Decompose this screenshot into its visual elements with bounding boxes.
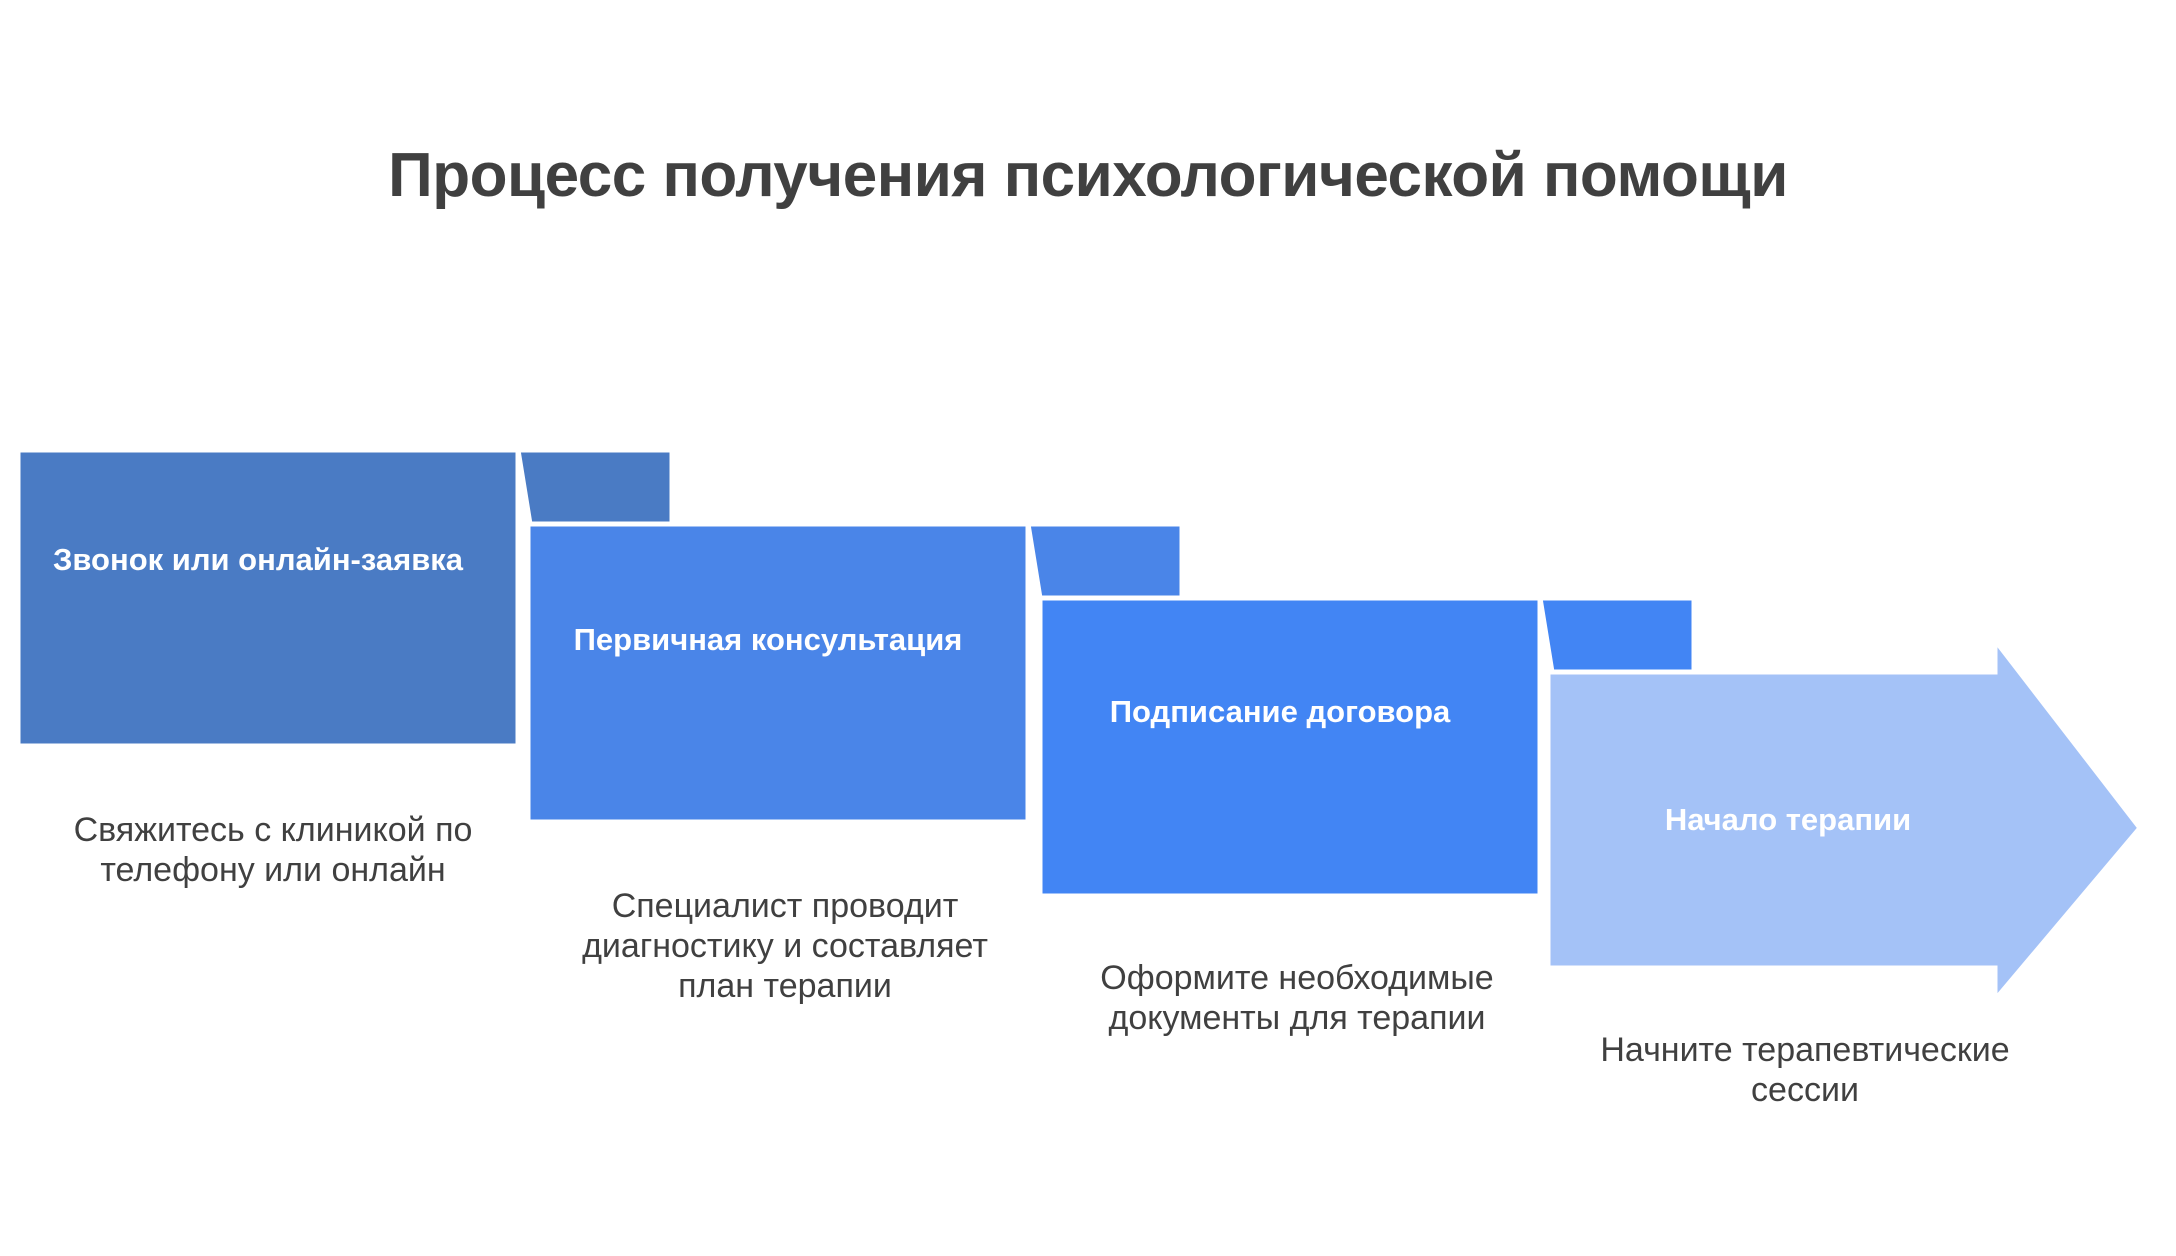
- slide-canvas: Процесс получения психологической помощи: [0, 0, 2176, 1256]
- process-step-4-caption: Начните терапевтические сессии: [1580, 1030, 2030, 1110]
- step-2-fold: [1028, 524, 1182, 598]
- process-step-2-caption: Специалист проводит диагностику и состав…: [560, 886, 1010, 1006]
- step-3-body: [1040, 598, 1540, 896]
- step-3-fold: [1540, 598, 1694, 672]
- step-1-fold: [518, 450, 672, 524]
- step-4-arrow: [1548, 640, 2140, 1000]
- process-step-1-caption: Свяжитесь с клиникой по телефону или онл…: [48, 810, 498, 890]
- step-2-body: [528, 524, 1028, 822]
- process-flow-diagram: Звонок или онлайн-заявка Первичная консу…: [0, 0, 2176, 1256]
- process-step-3-caption: Оформите необходимые документы для терап…: [1072, 958, 1522, 1038]
- step-1-body: [18, 450, 518, 746]
- process-step-4-shape[interactable]: [1548, 640, 2140, 1000]
